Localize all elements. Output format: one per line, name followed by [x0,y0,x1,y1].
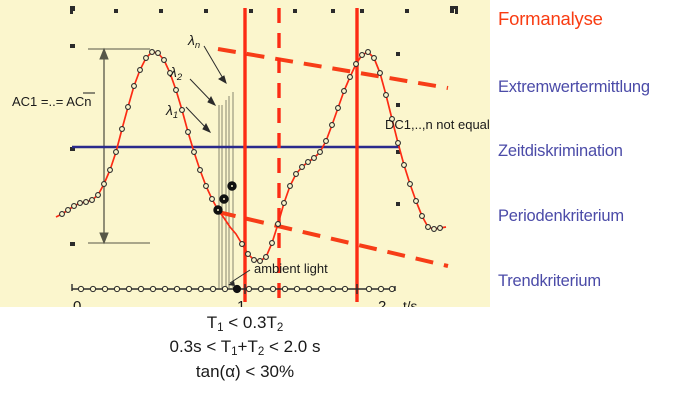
criteria-list: Formanalyse Extremwertermittlung Zeitdis… [498,0,697,307]
top-tick-marks [70,6,458,14]
x-axis-title: t/s [403,299,418,307]
criteria-item-extremwertermittlung[interactable]: Extremwertermittlung [498,78,650,97]
formula-1-part-b: < 0.3T [224,313,277,332]
formula-line-1: T1 < 0.3T2 [0,312,490,336]
svg-text:AC1 =..= ACn: AC1 =..= ACn [12,94,92,109]
x-tick-label-1: 1 [237,298,245,307]
formula-line-2: 0.3s < T1+T2 < 2.0 s [0,336,490,360]
formula-1-sub-2: 2 [277,322,283,334]
criteria-item-trendkriterium[interactable]: Trendkriterium [498,272,601,291]
formula-block: T1 < 0.3T2 0.3s < T1+T2 < 2.0 s tan(α) <… [0,312,490,383]
formula-2-part-b: +T [238,337,258,356]
ppg-waveform-chart: λ1 λ2 λn AC1 =..= ACn DC1,..,n not equal… [0,0,490,307]
upper-trend-envelope [218,49,448,88]
formula-1-part-a: T [207,313,217,332]
criteria-item-zeitdiskrimination[interactable]: Zeitdiskrimination [498,142,623,161]
ac-equality-label: AC1 =..= ACn [12,93,95,109]
lambda-2-label: λ2 [169,64,183,83]
x-tick-label-2: 2 [378,298,386,307]
lambda-1-label: λ1 [165,102,178,121]
formula-2-part-a: 0.3s < T [170,337,232,356]
lambda-n-label: λn [187,32,200,51]
formula-2-part-c: < 2.0 s [264,337,320,356]
ambient-light-annotation: ambient light [228,261,328,286]
criteria-item-periodenkriterium[interactable]: Periodenkriterium [498,207,624,226]
formula-line-3: tan(α) < 30% [0,361,490,384]
criteria-item-formanalyse[interactable]: Formanalyse [498,8,603,30]
lambda-annotation-arrows [186,46,226,132]
ppg-waveform-line [56,52,446,261]
x-tick-label-0: 0 [73,298,81,307]
svg-text:ambient light: ambient light [254,261,328,276]
ppg-sample-markers [60,50,443,264]
dc-inequality-label: DC1,..,n not equal [385,117,490,132]
left-tick-marks [70,44,75,246]
